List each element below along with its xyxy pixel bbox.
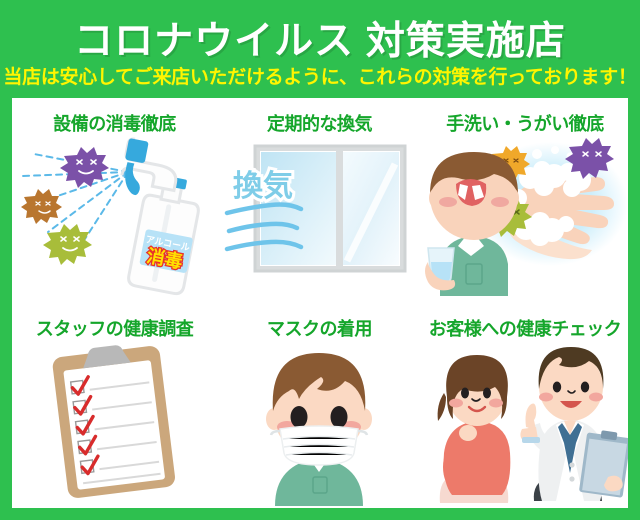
measure-caption-handwash: 手洗い・うがい徹底 [422, 110, 628, 136]
germ-olive [43, 224, 92, 265]
measures-grid: 設備の消毒徹底 [12, 98, 628, 508]
measure-card-ventilation: 定期的な換気 [217, 98, 422, 303]
measure-card-disinfection: 設備の消毒徹底 [12, 98, 217, 303]
measure-caption-mask: マスクの着用 [217, 315, 422, 341]
masked-person-icon [217, 341, 422, 506]
poster-header: コロナウイルス 対策実施店 当店は安心してご来店いただけるように、これらの対策を… [0, 0, 640, 98]
measure-caption-ventilation: 定期的な換気 [217, 110, 422, 136]
gargling-person [425, 152, 519, 296]
handwash-gargle-icon [422, 136, 628, 301]
poster-root: コロナウイルス 対策実施店 当店は安心してご来店いただけるように、これらの対策を… [0, 0, 640, 520]
measure-caption-disinfection: 設備の消毒徹底 [12, 110, 217, 136]
doctor [520, 347, 628, 501]
measure-card-mask: マスクの着用 [217, 303, 422, 508]
page-subtitle: 当店は安心してご来店いただけるように、これらの対策を行っております！ [0, 62, 640, 89]
measure-card-handwash: 手洗い・うがい徹底 [422, 98, 628, 303]
measure-caption-customer-check: お客様への健康チェック [422, 315, 628, 341]
window-airflow-icon: 換気 [217, 136, 422, 301]
ventilation-overlay-text: 換気 [233, 170, 293, 203]
customer-woman [438, 355, 511, 503]
doctor-customer-icon [422, 341, 628, 506]
measure-card-staff-health: スタッフの健康調査 [12, 303, 217, 508]
spray-bottle-icon: アルコール 消毒 [12, 136, 217, 301]
clipboard-checklist-icon [12, 341, 217, 506]
germ-brown [21, 189, 62, 224]
measure-caption-staff-health: スタッフの健康調査 [12, 315, 217, 341]
content-board: 設備の消毒徹底 [12, 98, 628, 508]
measure-card-customer-check: お客様への健康チェック [422, 303, 628, 508]
page-title: コロナウイルス 対策実施店 [0, 10, 640, 66]
